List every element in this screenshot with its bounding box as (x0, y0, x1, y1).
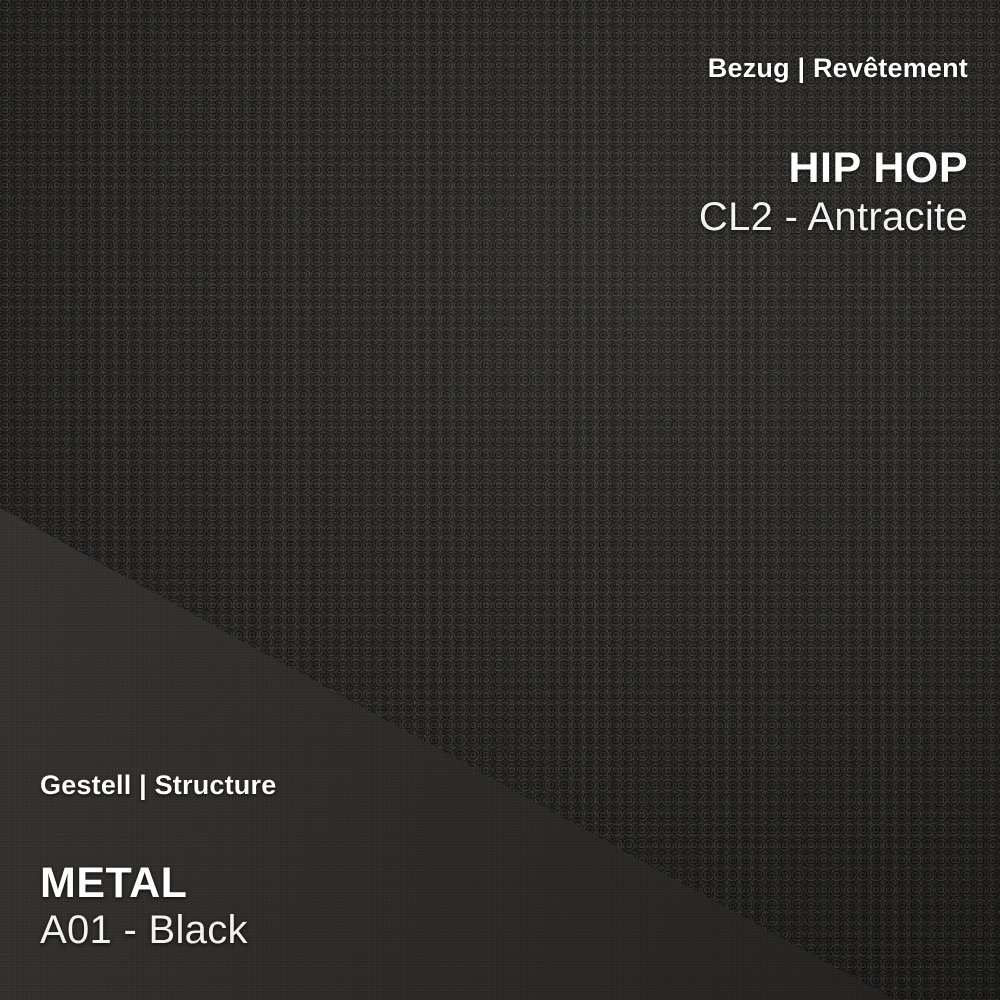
upholstery-category-label: Bezug | Revêtement (699, 54, 968, 84)
upholstery-code-color: CL2 - Antracite (699, 195, 968, 239)
upholstery-name: HIP HOP (699, 146, 968, 191)
frame-info-block: Gestell | Structure METAL A01 - Black (40, 771, 276, 952)
upholstery-info-block: Bezug | Revêtement HIP HOP CL2 - Antraci… (699, 54, 968, 239)
material-swatch-card: Bezug | Revêtement HIP HOP CL2 - Antraci… (0, 0, 1000, 1000)
frame-category-label: Gestell | Structure (40, 771, 276, 801)
frame-code-color: A01 - Black (40, 908, 276, 952)
frame-name: METAL (40, 861, 276, 906)
